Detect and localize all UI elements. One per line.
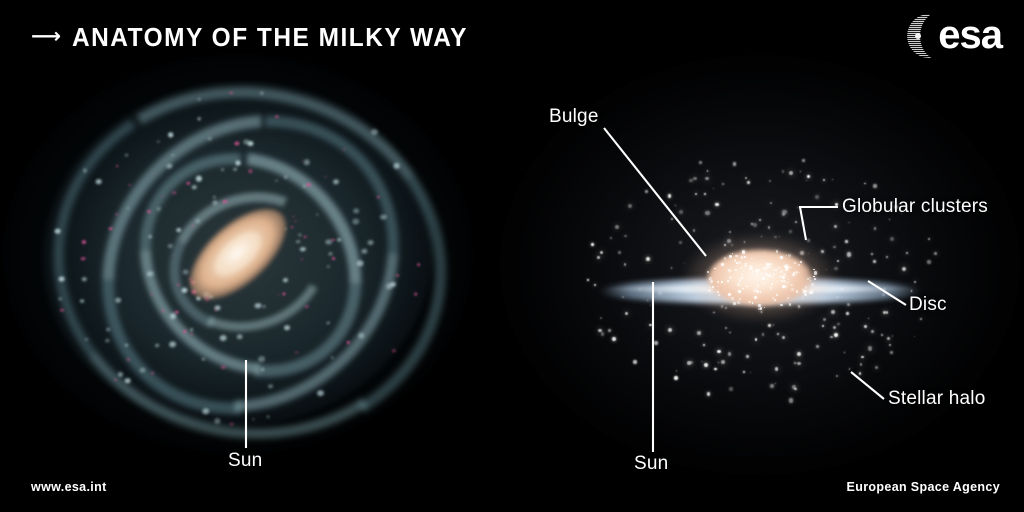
star-knot <box>139 367 145 372</box>
halo-star <box>782 336 785 339</box>
bulge-star <box>800 261 801 262</box>
bulge-star <box>766 278 768 280</box>
halo-star <box>782 213 785 216</box>
star-knot <box>275 179 278 181</box>
halo-star <box>830 336 832 338</box>
bulge-star <box>766 266 768 268</box>
agency-name: European Space Agency <box>847 480 1000 494</box>
star-knot <box>353 208 359 213</box>
halo-star <box>693 229 695 231</box>
label-globular-clusters: Globular clusters <box>842 196 988 218</box>
bulge-star <box>731 297 734 300</box>
face-on-milky-way-illustration <box>0 0 500 512</box>
star-knot <box>213 196 216 198</box>
star-knot <box>284 175 288 178</box>
halo-star <box>807 239 809 241</box>
bulge-star <box>742 251 745 254</box>
bulge-star <box>750 267 753 270</box>
bulge-star <box>751 258 752 259</box>
hii-region <box>215 309 217 311</box>
spiral-arms-group <box>21 58 456 450</box>
halo-star <box>717 350 720 353</box>
hii-region <box>248 170 253 174</box>
bulge-star <box>780 270 783 273</box>
halo-star <box>794 362 796 364</box>
halo-star <box>733 162 737 166</box>
halo-star <box>759 219 761 221</box>
halo-star <box>715 203 718 206</box>
halo-star <box>775 383 776 384</box>
bulge-star <box>758 304 761 307</box>
halo-star <box>625 312 628 315</box>
halo-star <box>608 329 611 332</box>
bulge-star <box>746 286 747 287</box>
bulge-star <box>805 286 808 289</box>
bulge-star <box>796 290 799 293</box>
bulge-star <box>814 278 816 280</box>
star-knot <box>212 200 217 205</box>
bulge-star <box>717 281 719 283</box>
halo-star <box>612 337 616 341</box>
hii-region <box>151 293 153 295</box>
halo-star <box>775 367 778 370</box>
bulge-star <box>721 263 724 266</box>
esa-logo: esa <box>907 14 1002 58</box>
bulge-star <box>809 291 812 294</box>
website-url[interactable]: www.esa.int <box>31 480 107 494</box>
halo-star <box>861 356 863 358</box>
star-knot <box>316 389 324 396</box>
bulge-star <box>783 273 786 276</box>
halo-star <box>770 202 772 204</box>
bulge-star <box>729 276 732 279</box>
label-disc: Disc <box>909 294 947 316</box>
esa-wordmark: esa <box>938 15 1002 55</box>
halo-star <box>646 257 650 261</box>
halo-star <box>928 238 930 240</box>
halo-star <box>610 237 612 239</box>
bulge-star <box>710 287 711 288</box>
bulge-star <box>729 255 732 258</box>
halo-star <box>821 250 824 253</box>
halo-star <box>591 243 594 246</box>
bulge-star <box>717 286 718 287</box>
star-knot <box>59 298 62 300</box>
bulge-star <box>708 289 711 292</box>
bulge-star <box>766 263 769 266</box>
bulge-star <box>769 266 771 268</box>
hii-region <box>82 240 87 244</box>
bulge-star <box>781 277 783 279</box>
page-title: ⟶ ANATOMY OF THE MILKY WAY <box>31 22 493 53</box>
halo-star <box>847 252 851 256</box>
star-knot <box>263 305 266 307</box>
halo-star <box>845 240 848 243</box>
halo-star <box>684 263 685 264</box>
bulge-star <box>776 269 778 271</box>
hii-region <box>192 225 194 227</box>
star-knot <box>124 378 130 383</box>
hii-region <box>343 148 346 150</box>
halo-star <box>797 362 801 366</box>
bulge-star <box>728 269 731 272</box>
bulge-star <box>785 268 788 271</box>
halo-star <box>600 251 603 254</box>
halo-star <box>927 260 931 264</box>
star-knot <box>169 133 172 136</box>
halo-star <box>864 325 867 328</box>
bulge-star <box>741 274 743 276</box>
bulge-star <box>813 276 814 277</box>
hii-region <box>324 176 326 177</box>
label-sun-left: Sun <box>228 450 262 472</box>
arrow-right-icon: ⟶ <box>31 26 61 47</box>
bulge-star <box>770 287 771 288</box>
infographic-poster: ⟶ ANATOMY OF THE MILKY WAY esa <box>0 0 1024 512</box>
halo-star <box>689 179 693 183</box>
halo-star <box>782 170 784 172</box>
halo-star <box>679 210 683 214</box>
star-knot <box>221 168 224 171</box>
halo-star <box>848 222 849 223</box>
halo-star <box>887 337 890 340</box>
bulge-star <box>727 280 729 282</box>
bulge-star <box>756 290 759 293</box>
bulge-star <box>739 298 741 300</box>
bulge-star <box>790 284 792 286</box>
hii-region <box>293 216 295 217</box>
halo-star <box>835 203 838 206</box>
halo-star <box>871 330 874 333</box>
halo-star <box>721 360 725 364</box>
halo-star <box>587 279 589 281</box>
page-title-text: ANATOMY OF THE MILKY WAY <box>72 22 468 53</box>
hii-region <box>151 371 155 374</box>
hii-region <box>282 293 285 295</box>
edge-on-galaxy-graphic <box>540 150 980 380</box>
halo-star <box>624 235 627 238</box>
bulge-star <box>776 250 778 252</box>
hii-region <box>396 274 399 276</box>
halo-star <box>674 376 678 380</box>
bulge-star <box>733 302 736 305</box>
halo-star <box>859 372 861 374</box>
halo-star <box>834 225 836 227</box>
halo-star <box>815 195 819 199</box>
halo-star <box>822 325 824 327</box>
spiral-galaxy-graphic <box>18 78 458 430</box>
halo-star <box>802 222 804 224</box>
bulge-star <box>741 256 743 258</box>
star-knot <box>358 333 365 339</box>
halo-star <box>755 338 758 341</box>
label-bulge: Bulge <box>549 106 599 128</box>
bulge-star <box>768 274 771 277</box>
hii-region <box>183 330 187 333</box>
halo-star <box>874 227 877 230</box>
star-knot <box>118 372 124 377</box>
halo-star <box>823 179 825 181</box>
bulge-star <box>802 297 804 299</box>
halo-star <box>707 392 711 396</box>
star-knot <box>170 313 177 319</box>
hii-region <box>221 365 226 369</box>
hii-region <box>377 196 380 198</box>
hii-region <box>161 309 164 312</box>
bulge-star <box>737 283 740 286</box>
halo-star <box>746 355 749 358</box>
halo-star <box>770 384 774 388</box>
halo-star <box>699 161 702 164</box>
star-knot <box>247 141 254 147</box>
hii-region <box>346 341 350 344</box>
bulge-star <box>728 293 731 296</box>
hii-region <box>60 308 64 311</box>
bulge-star <box>778 267 780 269</box>
halo-star <box>871 253 872 254</box>
bulge-star <box>783 280 786 283</box>
halo-star <box>704 363 708 367</box>
halo-star <box>753 223 757 227</box>
halo-star <box>890 237 894 241</box>
label-sun-right: Sun <box>634 453 668 475</box>
bulge-star <box>755 269 758 272</box>
bulge-star <box>735 255 737 257</box>
star-knot <box>149 235 152 238</box>
bulge-star <box>786 266 789 269</box>
halo-star <box>745 177 747 179</box>
halo-star <box>834 267 837 270</box>
star-knot <box>202 358 205 360</box>
bulge-star <box>814 271 817 274</box>
bulge-star <box>748 301 750 303</box>
star-knot <box>125 154 127 156</box>
halo-star <box>705 177 708 180</box>
halo-star <box>914 281 916 283</box>
star-knot <box>83 169 87 173</box>
star-knot <box>356 260 363 266</box>
halo-star <box>934 252 937 255</box>
halo-star <box>906 252 908 254</box>
halo-star <box>705 211 709 215</box>
halo-star <box>687 361 690 364</box>
bulge-star <box>738 261 741 264</box>
bulge-star <box>794 262 796 264</box>
bulge-star <box>763 267 766 270</box>
star-knot <box>331 356 334 358</box>
bulge-star <box>744 256 746 258</box>
star-knot <box>329 252 333 255</box>
star-knot <box>337 238 341 241</box>
halo-star <box>831 310 835 314</box>
halo-star <box>807 175 809 177</box>
bulge-star <box>754 296 757 299</box>
edge-on-milky-way-illustration <box>500 0 1024 512</box>
bulge-star <box>777 281 778 282</box>
bulge-star <box>744 265 747 268</box>
halo-star <box>789 171 793 175</box>
halo-star <box>844 352 845 353</box>
star-knot <box>125 344 128 346</box>
bulge-star <box>737 301 740 304</box>
halo-star <box>769 180 771 182</box>
halo-star <box>868 346 872 350</box>
bulge-star <box>772 297 774 299</box>
bulge-star <box>780 256 782 258</box>
halo-star <box>668 194 672 198</box>
halo-star <box>773 324 774 325</box>
star-knot <box>80 299 83 302</box>
halo-star <box>789 230 792 233</box>
halo-star <box>794 388 796 390</box>
halo-star <box>837 260 839 262</box>
bulge-star <box>758 286 759 287</box>
hii-region <box>392 349 396 352</box>
hii-region <box>230 422 234 425</box>
star-knot <box>202 408 209 414</box>
label-stellar-halo: Stellar halo <box>888 388 985 410</box>
halo-star <box>654 341 658 345</box>
halo-star <box>789 398 793 402</box>
halo-star <box>836 375 838 377</box>
